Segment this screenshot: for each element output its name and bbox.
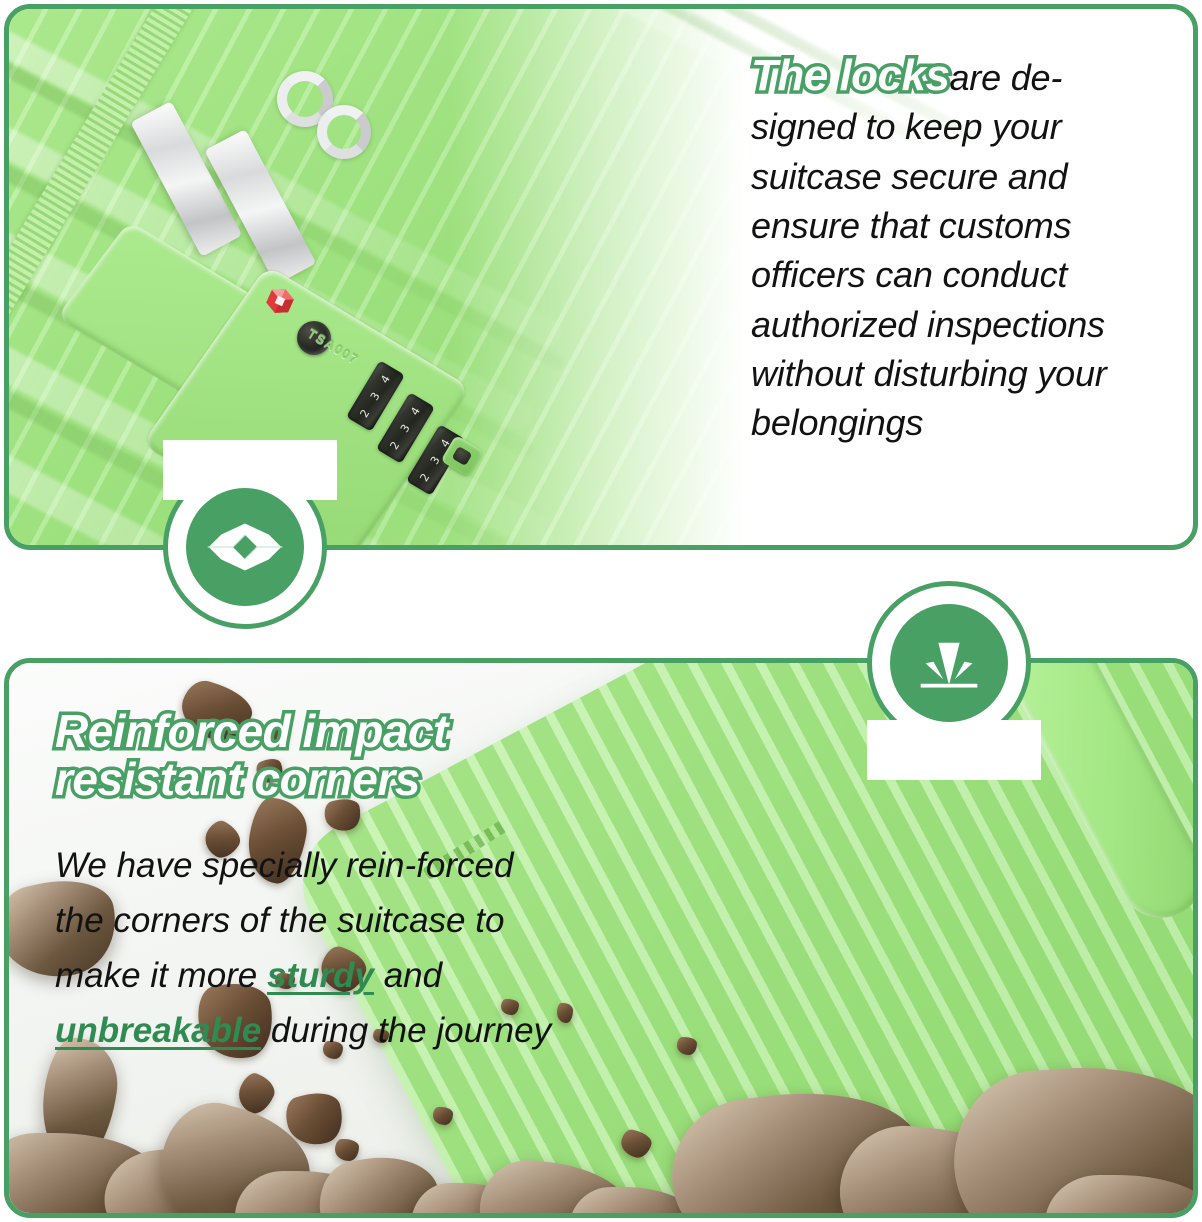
corners-body-joiner: and <box>374 956 442 995</box>
tsa-diamond-glyph <box>204 517 286 577</box>
locks-text-block: The locksare de- signed to keep your sui… <box>751 53 1159 448</box>
locks-body-text: The locksare de- signed to keep your sui… <box>751 53 1159 448</box>
corners-text-block: Reinforced impact resistant corners We h… <box>55 707 565 1059</box>
corners-headline: Reinforced impact resistant corners <box>55 707 565 804</box>
impact-glyph <box>911 629 987 697</box>
zipper-ring <box>317 105 371 159</box>
corners-headline-line2: resistant corners <box>55 755 565 803</box>
locks-body-rest: signed to keep your suitcase secure and … <box>751 106 1107 443</box>
locks-headline: The locks <box>751 51 949 100</box>
corners-headline-line1: Reinforced impact <box>55 707 565 755</box>
tsa-diamond-icon[interactable] <box>186 488 304 606</box>
suitcase-lock-photo: TSA007 432 432 432 <box>9 9 769 545</box>
corners-body-part2: during the journey <box>261 1011 551 1050</box>
locks-body-lead: are de- <box>949 57 1062 98</box>
impact-resistance-icon[interactable] <box>890 604 1008 722</box>
corners-emphasis-unbreakable: unbreakable <box>55 1011 261 1050</box>
corners-body-text: We have specially rein-forced the corner… <box>55 838 565 1059</box>
corners-emphasis-sturdy: sturdy <box>267 956 374 995</box>
